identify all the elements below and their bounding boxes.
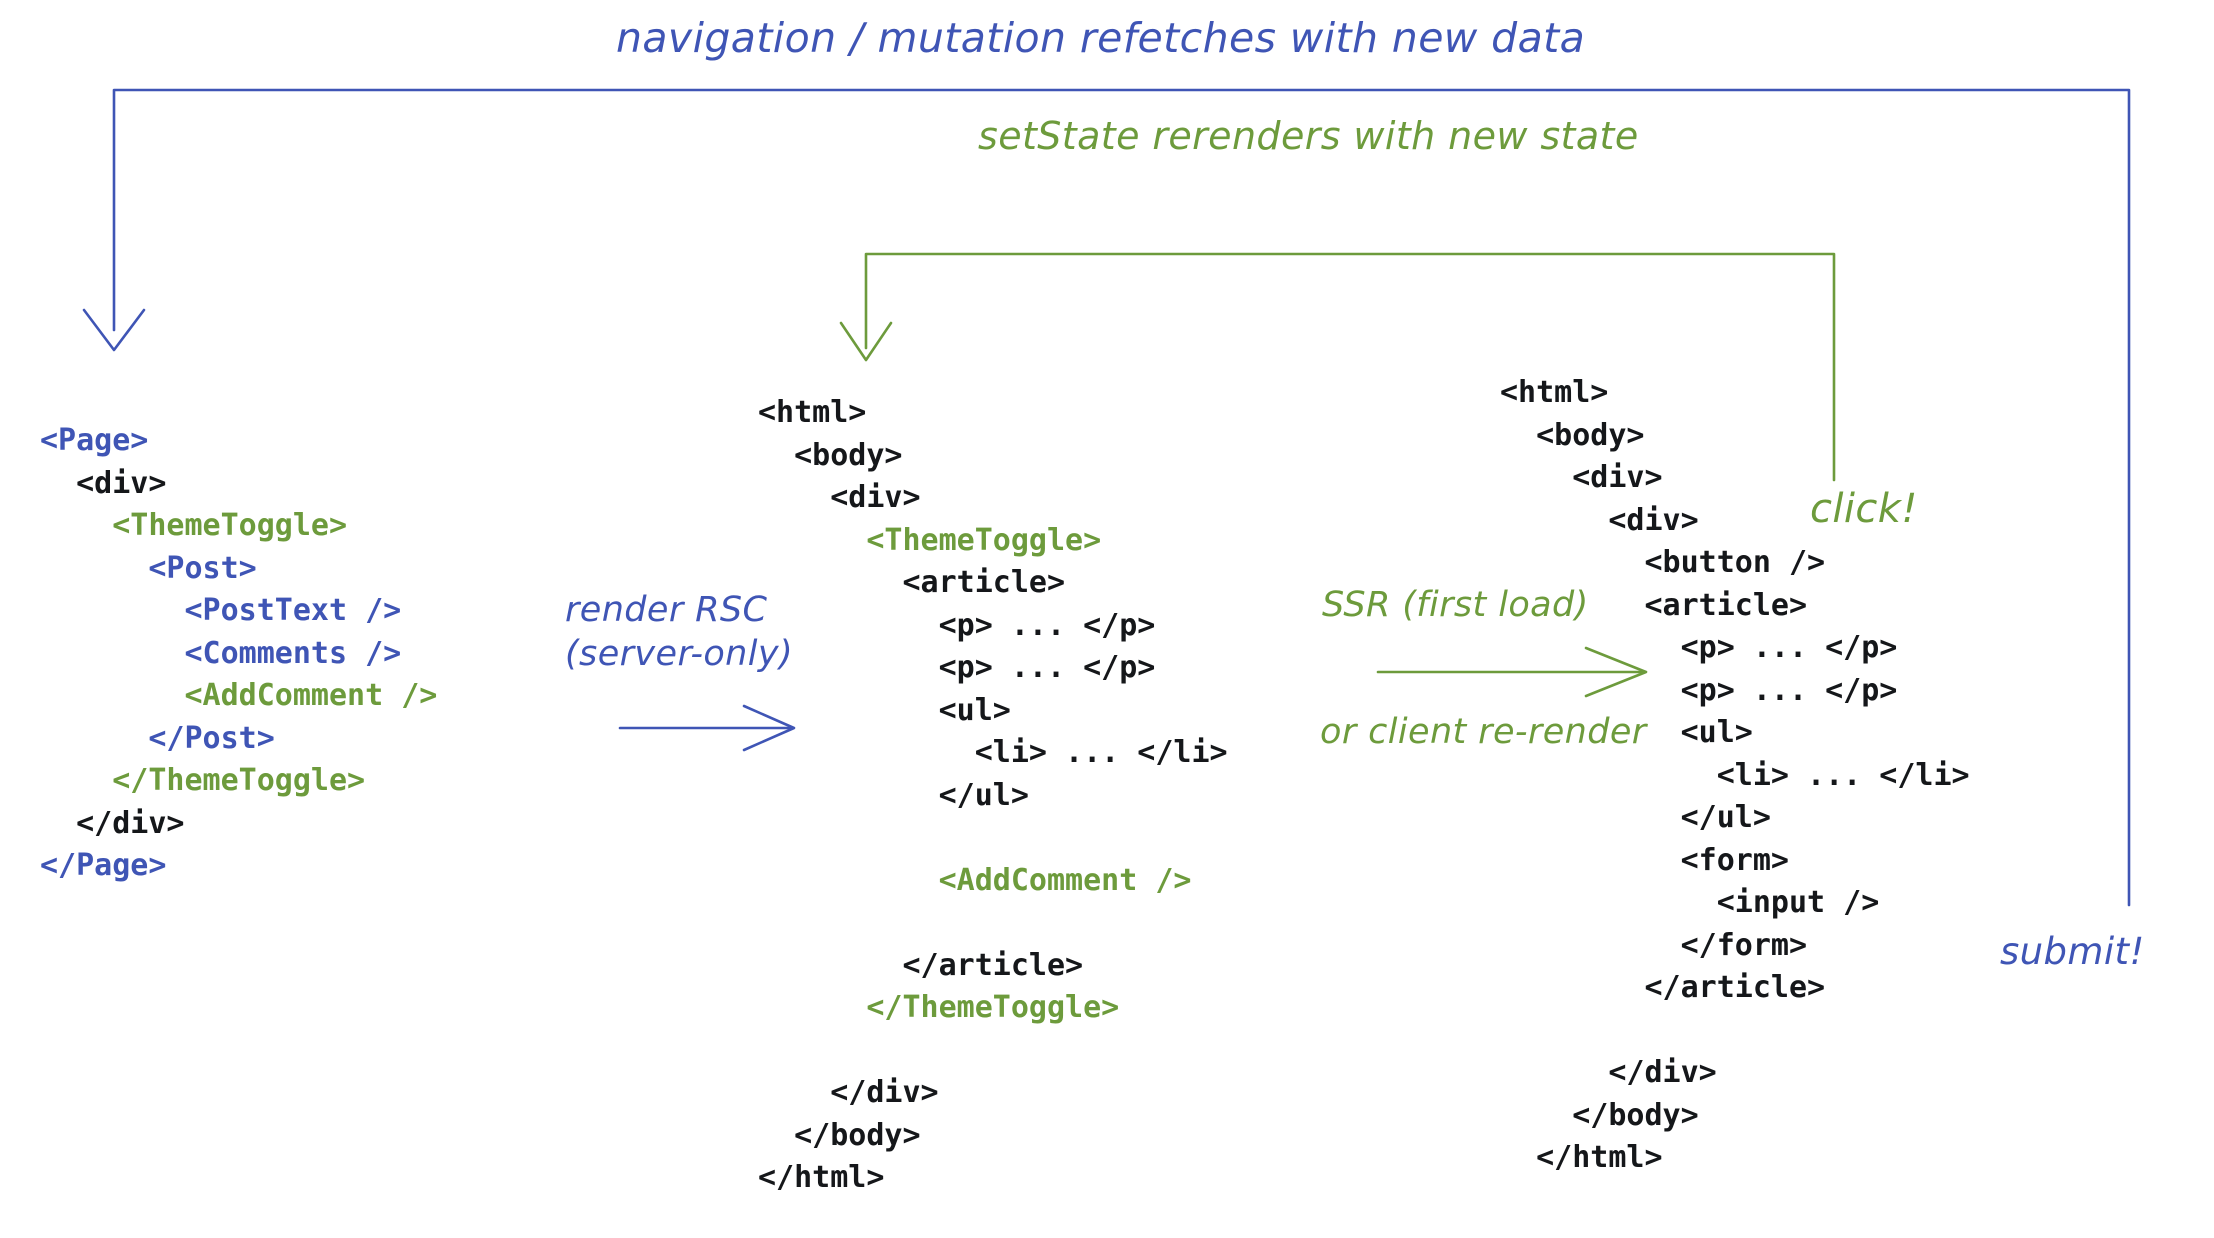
code-token: <div> [40, 466, 166, 501]
code-token: <p> ... </p> [1500, 630, 1897, 665]
code-token: <input /> [1500, 885, 1879, 920]
code-token: <li> ... </li> [758, 735, 1228, 770]
code-token: <Post> [40, 551, 257, 586]
code-line: <ThemeToggle> [40, 505, 437, 548]
code-line: <article> [1500, 585, 1970, 628]
code-line: <p> ... </p> [758, 647, 1228, 690]
code-token: <p> ... </p> [758, 608, 1155, 643]
code-token: </div> [758, 1075, 939, 1110]
code-token: <article> [1500, 588, 1807, 623]
code-token: <html> [1500, 375, 1608, 410]
code-line [1500, 1010, 1970, 1053]
code-line: <form> [1500, 840, 1970, 883]
code-token: </html> [758, 1160, 884, 1195]
code-line: </html> [758, 1157, 1228, 1200]
dom-tree-code: <html> <body> <div> <div> <button /> <ar… [1500, 372, 1970, 1180]
code-line: <body> [758, 435, 1228, 478]
code-token: <PostText /> [40, 593, 401, 628]
code-token: <div> [758, 480, 921, 515]
navigation-loop-label: navigation / mutation refetches with new… [616, 14, 1585, 62]
react-component-tree-code: <Page> <div> <ThemeToggle> <Post> <PostT… [40, 420, 437, 888]
code-line: <li> ... </li> [758, 732, 1228, 775]
code-token: <ul> [1500, 715, 1753, 750]
submit-label: submit! [2000, 930, 2145, 973]
code-line: <div> [1500, 457, 1970, 500]
code-line: </Post> [40, 718, 437, 761]
code-token: <Page> [40, 423, 148, 458]
code-line: <div> [1500, 500, 1970, 543]
code-token: </ul> [758, 778, 1029, 813]
rsc-output-tree-code: <html> <body> <div> <ThemeToggle> <artic… [758, 392, 1228, 1200]
code-line: </ThemeToggle> [40, 760, 437, 803]
code-line: <PostText /> [40, 590, 437, 633]
code-line: </body> [758, 1115, 1228, 1158]
code-line [758, 1030, 1228, 1073]
code-token: <html> [758, 395, 866, 430]
code-token: <div> [1500, 460, 1663, 495]
code-line: <article> [758, 562, 1228, 605]
code-line: </form> [1500, 925, 1970, 968]
code-token: </article> [1500, 970, 1825, 1005]
code-token: <body> [758, 438, 903, 473]
code-token: <AddComment /> [758, 863, 1191, 898]
code-token: <p> ... </p> [1500, 673, 1897, 708]
code-line: <html> [1500, 372, 1970, 415]
code-line: </html> [1500, 1137, 1970, 1180]
code-line: </Page> [40, 845, 437, 888]
code-line: </ul> [1500, 797, 1970, 840]
setstate-loop-label: setState rerenders with new state [978, 114, 1639, 158]
code-line: <button /> [1500, 542, 1970, 585]
code-line: <p> ... </p> [758, 605, 1228, 648]
code-line: <ThemeToggle> [758, 520, 1228, 563]
code-token: </body> [1500, 1098, 1699, 1133]
code-token: <ThemeToggle> [40, 508, 347, 543]
code-token: <article> [758, 565, 1065, 600]
code-line: <ul> [1500, 712, 1970, 755]
code-token: <Comments /> [40, 636, 401, 671]
code-line: <Page> [40, 420, 437, 463]
code-line [758, 817, 1228, 860]
code-line: <Comments /> [40, 633, 437, 676]
code-token: </Post> [40, 721, 275, 756]
code-token: <ThemeToggle> [758, 523, 1101, 558]
code-line: </div> [758, 1072, 1228, 1115]
code-line: </article> [758, 945, 1228, 988]
code-token: </body> [758, 1118, 921, 1153]
code-token: </html> [1500, 1140, 1663, 1175]
code-line: <AddComment /> [40, 675, 437, 718]
code-line: </div> [1500, 1052, 1970, 1095]
code-line: <p> ... </p> [1500, 627, 1970, 670]
code-token: <form> [1500, 843, 1789, 878]
code-line: <li> ... </li> [1500, 755, 1970, 798]
code-token: </ThemeToggle> [758, 990, 1119, 1025]
code-line [758, 902, 1228, 945]
code-token: </Page> [40, 848, 166, 883]
code-token: <p> ... </p> [758, 650, 1155, 685]
code-token: <li> ... </li> [1500, 758, 1970, 793]
code-token: <ul> [758, 693, 1011, 728]
code-line: </article> [1500, 967, 1970, 1010]
code-line: </ul> [758, 775, 1228, 818]
code-token: </form> [1500, 928, 1807, 963]
code-token: </ThemeToggle> [40, 763, 365, 798]
code-token: <body> [1500, 418, 1645, 453]
code-token: </div> [1500, 1055, 1717, 1090]
code-line: <Post> [40, 548, 437, 591]
code-line: <html> [758, 392, 1228, 435]
code-token: </div> [40, 806, 185, 841]
code-line: </body> [1500, 1095, 1970, 1138]
diagram-canvas: navigation / mutation refetches with new… [0, 0, 2214, 1238]
code-token: <div> [1500, 503, 1699, 538]
code-line: <div> [40, 463, 437, 506]
code-token: <AddComment /> [40, 678, 437, 713]
code-line: <input /> [1500, 882, 1970, 925]
code-line: <ul> [758, 690, 1228, 733]
code-token: </article> [758, 948, 1083, 983]
code-line: <div> [758, 477, 1228, 520]
code-line: <body> [1500, 415, 1970, 458]
code-token: </ul> [1500, 800, 1771, 835]
code-line: <p> ... </p> [1500, 670, 1970, 713]
code-line: <AddComment /> [758, 860, 1228, 903]
code-line: </div> [40, 803, 437, 846]
code-token: <button /> [1500, 545, 1825, 580]
code-line: </ThemeToggle> [758, 987, 1228, 1030]
